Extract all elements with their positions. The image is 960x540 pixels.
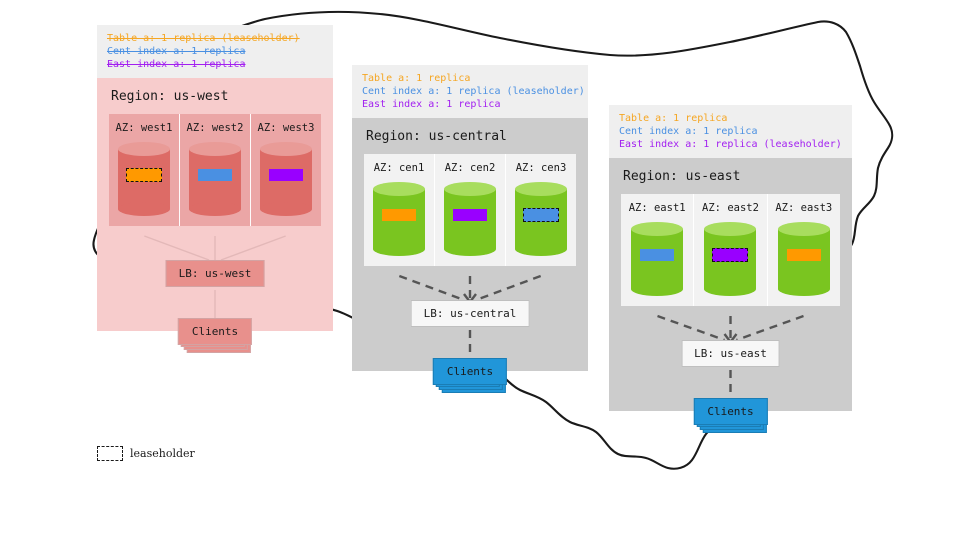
az-label: AZ: east3 xyxy=(775,202,832,214)
az-label: AZ: west3 xyxy=(258,122,315,134)
az-label: AZ: west1 xyxy=(116,122,173,134)
az-label: AZ: west2 xyxy=(187,122,244,134)
replica-legend-line: Cent index a: 1 replica xyxy=(107,45,323,58)
az-box-east2[interactable]: AZ: east2 xyxy=(693,194,766,306)
cylinder-bottom xyxy=(260,202,312,216)
replica-legend-line: Table a: 1 replica (leaseholder) xyxy=(107,32,323,45)
leaseholder-legend: leaseholder xyxy=(97,446,195,461)
database-cylinder-icon[interactable] xyxy=(260,142,312,216)
replica-chip-leaseholder xyxy=(523,208,559,222)
cylinder-bottom xyxy=(444,242,496,256)
region-panel-us-central: Table a: 1 replicaCent index a: 1 replic… xyxy=(352,65,588,371)
load-balancer-us-central[interactable]: LB: us-central xyxy=(411,300,530,327)
database-cylinder-icon[interactable] xyxy=(704,222,756,296)
az-box-cen3[interactable]: AZ: cen3 xyxy=(505,154,576,266)
load-balancer-us-west[interactable]: LB: us-west xyxy=(166,260,265,287)
replica-chip xyxy=(787,249,821,261)
replica-legend-us-east: Table a: 1 replicaCent index a: 1 replic… xyxy=(609,105,852,158)
cylinder-top xyxy=(189,142,241,156)
dashed-rectangle-icon xyxy=(97,446,123,461)
region-body-us-west: Region: us-westAZ: west1AZ: west2AZ: wes… xyxy=(97,78,333,331)
database-cylinder-icon[interactable] xyxy=(631,222,683,296)
az-box-east3[interactable]: AZ: east3 xyxy=(767,194,840,306)
cylinder-top xyxy=(778,222,830,236)
database-cylinder-icon[interactable] xyxy=(189,142,241,216)
az-label: AZ: cen2 xyxy=(445,162,496,174)
replica-legend-line: Cent index a: 1 replica xyxy=(619,125,842,138)
az-box-west1[interactable]: AZ: west1 xyxy=(109,114,179,226)
clients-box-us-central[interactable]: Clients xyxy=(433,358,507,385)
region-body-us-east: Region: us-eastAZ: east1AZ: east2AZ: eas… xyxy=(609,158,852,411)
az-strip-us-east: AZ: east1AZ: east2AZ: east3 xyxy=(621,194,840,306)
cylinder-bottom xyxy=(189,202,241,216)
database-cylinder-icon[interactable] xyxy=(778,222,830,296)
az-label: AZ: east2 xyxy=(702,202,759,214)
replica-chip xyxy=(382,209,416,221)
replica-chip xyxy=(198,169,232,181)
clients-box-us-east[interactable]: Clients xyxy=(693,398,767,425)
cylinder-top xyxy=(373,182,425,196)
leaseholder-legend-label: leaseholder xyxy=(130,447,195,460)
connector-line xyxy=(658,316,725,340)
region-title-us-east: Region: us-east xyxy=(609,158,852,194)
az-box-west3[interactable]: AZ: west3 xyxy=(250,114,321,226)
database-cylinder-icon[interactable] xyxy=(118,142,170,216)
cylinder-bottom xyxy=(515,242,567,256)
region-title-us-central: Region: us-central xyxy=(352,118,588,154)
cylinder-bottom xyxy=(704,282,756,296)
replica-legend-line: East index a: 1 replica xyxy=(107,58,323,71)
az-label: AZ: cen3 xyxy=(516,162,567,174)
az-box-cen1[interactable]: AZ: cen1 xyxy=(364,154,434,266)
az-box-east1[interactable]: AZ: east1 xyxy=(621,194,693,306)
replica-chip xyxy=(640,249,674,261)
replica-legend-line: Table a: 1 replica xyxy=(362,72,578,85)
region-body-us-central: Region: us-centralAZ: cen1AZ: cen2AZ: ce… xyxy=(352,118,588,371)
replica-chip-leaseholder xyxy=(126,168,162,182)
az-label: AZ: cen1 xyxy=(374,162,425,174)
az-label: AZ: east1 xyxy=(629,202,686,214)
replica-legend-line: East index a: 1 replica xyxy=(362,98,578,111)
replica-legend-line: Cent index a: 1 replica (leaseholder) xyxy=(362,85,578,98)
connector-line xyxy=(737,316,804,340)
replica-chip xyxy=(269,169,303,181)
region-panel-us-east: Table a: 1 replicaCent index a: 1 replic… xyxy=(609,105,852,411)
replica-legend-us-west: Table a: 1 replica (leaseholder)Cent ind… xyxy=(97,25,333,78)
cylinder-top xyxy=(515,182,567,196)
cylinder-bottom xyxy=(778,282,830,296)
az-box-west2[interactable]: AZ: west2 xyxy=(179,114,250,226)
replica-chip xyxy=(453,209,487,221)
clients-stack-us-west[interactable]: Clients xyxy=(178,318,252,345)
clients-stack-us-central[interactable]: Clients xyxy=(433,358,507,385)
cylinder-top xyxy=(444,182,496,196)
replica-legend-line: Table a: 1 replica xyxy=(619,112,842,125)
az-strip-us-central: AZ: cen1AZ: cen2AZ: cen3 xyxy=(364,154,576,266)
cylinder-bottom xyxy=(631,282,683,296)
database-cylinder-icon[interactable] xyxy=(373,182,425,256)
connector-line xyxy=(144,236,209,260)
cylinder-top xyxy=(631,222,683,236)
replica-chip-leaseholder xyxy=(712,248,748,262)
load-balancer-us-east[interactable]: LB: us-east xyxy=(681,340,780,367)
clients-box-us-west[interactable]: Clients xyxy=(178,318,252,345)
connector-line xyxy=(221,236,286,260)
cylinder-bottom xyxy=(118,202,170,216)
replica-legend-line: East index a: 1 replica (leaseholder) xyxy=(619,138,842,151)
cylinder-bottom xyxy=(373,242,425,256)
connector-line xyxy=(399,276,464,300)
database-cylinder-icon[interactable] xyxy=(515,182,567,256)
connector-line xyxy=(476,276,541,300)
database-cylinder-icon[interactable] xyxy=(444,182,496,256)
cylinder-top xyxy=(260,142,312,156)
region-panel-us-west: Table a: 1 replica (leaseholder)Cent ind… xyxy=(97,25,333,331)
replica-legend-us-central: Table a: 1 replicaCent index a: 1 replic… xyxy=(352,65,588,118)
region-title-us-west: Region: us-west xyxy=(97,78,333,114)
az-strip-us-west: AZ: west1AZ: west2AZ: west3 xyxy=(109,114,321,226)
az-box-cen2[interactable]: AZ: cen2 xyxy=(434,154,505,266)
cylinder-top xyxy=(118,142,170,156)
clients-stack-us-east[interactable]: Clients xyxy=(693,398,767,425)
